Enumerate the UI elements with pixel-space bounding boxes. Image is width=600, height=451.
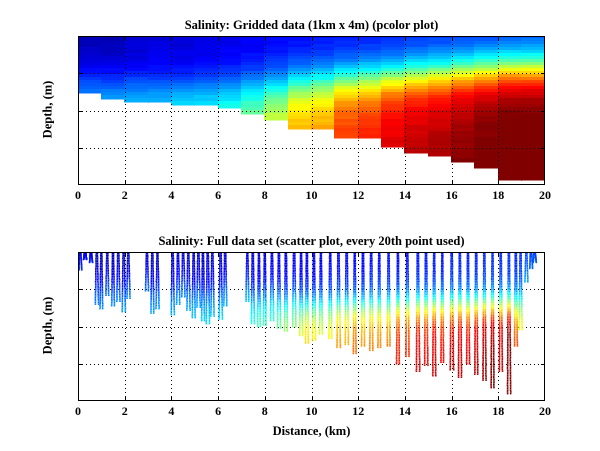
x-tick-label: 12: [352, 188, 364, 203]
x-tick-label: 10: [306, 404, 318, 419]
x-tick-label: 18: [492, 188, 504, 203]
x-tick-label: 6: [215, 404, 221, 419]
x-tick-label: 14: [399, 188, 411, 203]
x-tick-label: 8: [262, 404, 268, 419]
x-tick-label: 6: [215, 188, 221, 203]
x-axis-label-scatter: Distance, (km): [273, 424, 351, 439]
y-axis-label-scatter: Depth, (m): [41, 289, 56, 361]
y-axis-label-gridded: Depth, (m): [41, 73, 56, 145]
x-tick-label: 16: [446, 188, 458, 203]
scatter-plot-canvas: [78, 252, 545, 401]
x-tick-label: 16: [446, 404, 458, 419]
x-tick-label: 4: [168, 404, 174, 419]
x-tick-label: 14: [399, 404, 411, 419]
x-tick-label: 8: [262, 188, 268, 203]
pcolor-plot-canvas: [78, 36, 545, 185]
x-tick-label: 0: [75, 188, 81, 203]
x-tick-label: 18: [492, 404, 504, 419]
axes-title-scatter: Salinity: Full data set (scatter plot, e…: [78, 234, 545, 249]
axes-title-gridded: Salinity: Gridded data (1km x 4m) (pcolo…: [78, 18, 545, 33]
matlab-figure-window: Salinity: Gridded data (1km x 4m) (pcolo…: [0, 0, 600, 451]
x-tick-label: 4: [168, 188, 174, 203]
x-tick-label: 2: [122, 404, 128, 419]
x-tick-label: 20: [539, 188, 551, 203]
x-tick-label: 0: [75, 404, 81, 419]
x-tick-label: 2: [122, 188, 128, 203]
x-tick-label: 20: [539, 404, 551, 419]
x-tick-label: 10: [306, 188, 318, 203]
x-tick-label: 12: [352, 404, 364, 419]
